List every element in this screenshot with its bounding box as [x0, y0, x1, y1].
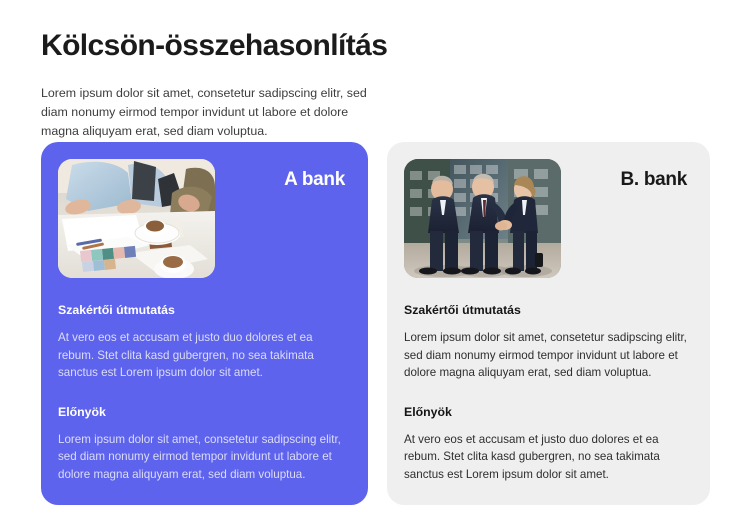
bank-card-a-title: A bank	[284, 168, 345, 192]
card-a-section-benefits-heading: Előnyök	[58, 404, 351, 420]
page-subtitle: Lorem ipsum dolor sit amet, consetetur s…	[41, 84, 386, 141]
bank-card-b-body: Szakértői útmutatás Lorem ipsum dolor si…	[404, 302, 693, 483]
card-a-section-guidance-heading: Szakértői útmutatás	[58, 302, 351, 318]
card-a-section-benefits: Előnyök Lorem ipsum dolor sit amet, cons…	[58, 404, 351, 484]
card-b-section-guidance: Szakértői útmutatás Lorem ipsum dolor si…	[404, 302, 693, 382]
bank-card-a[interactable]: A bank Szakértői útmutatás At vero eos e…	[41, 142, 368, 505]
card-a-section-guidance-text: At vero eos et accusam et justo duo dolo…	[58, 329, 351, 382]
page-title: Kölcsön-összehasonlítás	[41, 28, 461, 64]
meeting-table-photo	[58, 159, 215, 278]
card-b-section-guidance-heading: Szakértői útmutatás	[404, 302, 693, 318]
card-a-section-guidance: Szakértői útmutatás At vero eos et accus…	[58, 302, 351, 382]
comparison-page: Kölcsön-összehasonlítás Lorem ipsum dolo…	[0, 0, 750, 529]
card-b-section-benefits-heading: Előnyök	[404, 404, 693, 420]
card-a-section-benefits-text: Lorem ipsum dolor sit amet, consetetur s…	[58, 431, 351, 484]
bank-card-b-title: B. bank	[620, 168, 687, 192]
bank-card-b[interactable]: B. bank Szakértői útmutatás Lorem ipsum …	[387, 142, 710, 505]
card-b-section-guidance-text: Lorem ipsum dolor sit amet, consetetur s…	[404, 329, 693, 382]
bank-comparison-cards: A bank Szakértői útmutatás At vero eos e…	[41, 142, 710, 505]
handshake-photo	[404, 159, 561, 278]
card-a-header: A bank	[58, 159, 351, 278]
card-b-section-benefits-text: At vero eos et accusam et justo duo dolo…	[404, 431, 693, 484]
card-b-section-benefits: Előnyök At vero eos et accusam et justo …	[404, 404, 693, 484]
bank-card-a-body: Szakértői útmutatás At vero eos et accus…	[58, 302, 351, 483]
card-b-header: B. bank	[404, 159, 693, 278]
page-intro: Kölcsön-összehasonlítás Lorem ipsum dolo…	[41, 28, 461, 141]
